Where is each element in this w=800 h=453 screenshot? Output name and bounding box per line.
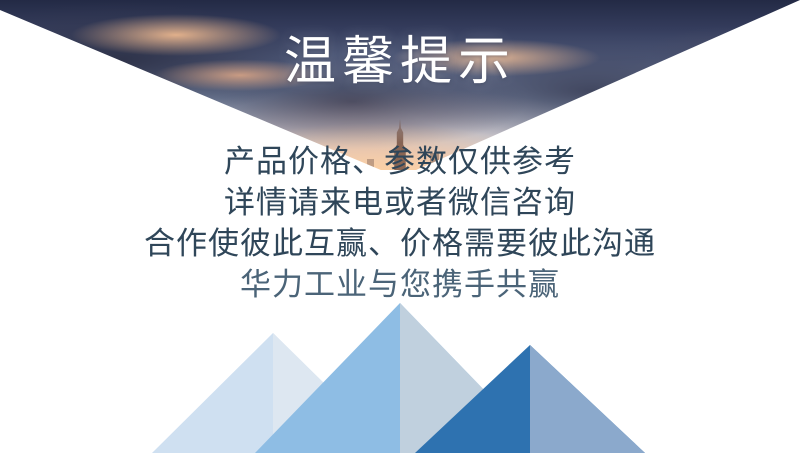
promo-slide: 温馨提示 产品价格、参数仅供参考 详情请来电或者微信咨询 合作使彼此互赢、价格需… [0,0,800,453]
mountain-right-dark-shade [530,345,645,453]
notice-text-block: 产品价格、参数仅供参考 详情请来电或者微信咨询 合作使彼此互赢、价格需要彼此沟通… [0,141,800,305]
page-title: 温馨提示 [0,36,800,91]
notice-line-1: 产品价格、参数仅供参考 [0,141,800,182]
mountain-graphic [0,293,800,453]
notice-line-2: 详情请来电或者微信咨询 [0,182,800,223]
notice-line-3: 合作使彼此互赢、价格需要彼此沟通 [0,223,800,264]
